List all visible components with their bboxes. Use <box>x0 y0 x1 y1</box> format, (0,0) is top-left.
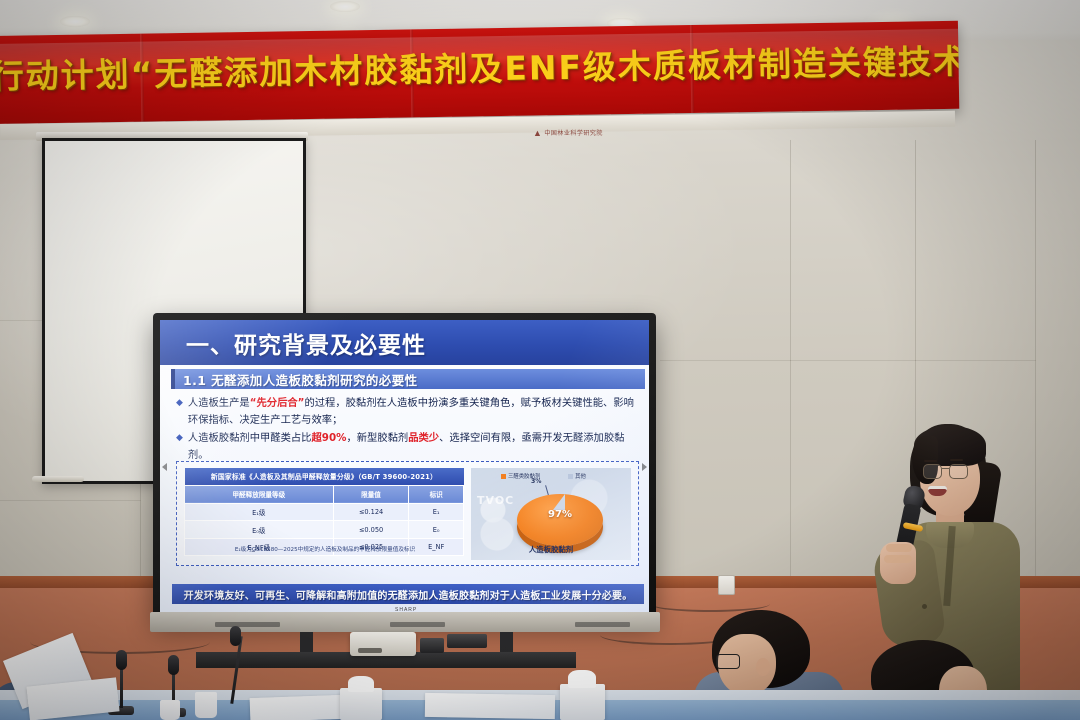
audience-ear <box>756 658 770 676</box>
chart-photo-watermark: TVOC <box>477 494 514 507</box>
downlight-icon <box>60 16 90 27</box>
slide-title: 一、研究背景及必要性 <box>160 320 649 365</box>
media-box <box>420 638 444 653</box>
slide-data-panel: 新国家标准《人造板及其制品甲醛释放量分级》（GB/T 39600-2021） 甲… <box>176 461 639 566</box>
bullet-item: ◆ 人造板胶黏剂中甲醛类占比超90%，新型胶黏剂品类少、选择空间有限，亟需开发无… <box>176 430 638 463</box>
presenter-eyebrow <box>924 460 937 462</box>
presenter-eyebrow <box>950 459 963 461</box>
display-speaker-grille <box>575 622 630 627</box>
meeting-room-photo: 行动计划“无醛添加木材胶黏剂及ENF级木质板材制造关键技术研究与示范”项目启动会… <box>0 0 1080 720</box>
downlight-icon <box>330 1 360 12</box>
display-speaker-grille <box>215 622 280 627</box>
media-box <box>447 634 487 648</box>
legend-entry: 其他 <box>568 474 586 480</box>
bullet-item: ◆ 人造板生产是“先分后合”的过程，胶黏剂在人造板中扮演多重关键角色，赋予板材关… <box>176 395 638 428</box>
paper-document <box>425 693 555 719</box>
cell-mark: E₀ <box>409 521 464 538</box>
legend-swatch-icon <box>568 474 573 479</box>
chart-title: 人造板胶黏剂 <box>471 544 631 555</box>
presenter-glasses-lens <box>923 464 942 479</box>
cell-mark: E₁ <box>409 503 464 520</box>
pie-slice-label-main: 97% <box>517 509 603 520</box>
event-banner: 行动计划“无醛添加木材胶黏剂及ENF级木质板材制造关键技术研究与示范”项目启动会 <box>0 21 959 124</box>
presentation-slide: 一、研究背景及必要性 1.1 无醛添加人造板胶黏剂研究的必要性 ◆ 人造板生产是… <box>160 320 649 614</box>
audience-glasses <box>716 654 740 669</box>
slide-bullets: ◆ 人造板生产是“先分后合”的过程，胶黏剂在人造板中扮演多重关键角色，赋予板材关… <box>176 395 638 466</box>
table-caption: 新国家标准《人造板及其制品甲醛释放量分级》（GB/T 39600-2021） <box>185 468 464 485</box>
table-footnote: E₁级为GB18580—2025中规定的人造板及制品的甲醛释放限量值及标识 <box>186 545 464 553</box>
interactive-display[interactable]: 一、研究背景及必要性 1.1 无醛添加人造板胶黏剂研究的必要性 ◆ 人造板生产是… <box>153 313 656 621</box>
diamond-bullet-icon: ◆ <box>176 395 183 428</box>
projection-screen-bar[interactable] <box>32 476 84 482</box>
presenter-coat-button <box>922 604 927 609</box>
formaldehyde-grade-table: 新国家标准《人造板及其制品甲醛释放量分级》（GB/T 39600-2021） 甲… <box>184 468 464 556</box>
desk-microphone-capsule <box>116 650 127 670</box>
tissue-box <box>560 684 605 720</box>
slide-section-heading: 1.1 无醛添加人造板胶黏剂研究的必要性 <box>171 369 645 389</box>
bullet-text: 人造板生产是“先分后合”的过程，胶黏剂在人造板中扮演多重关键角色，赋予板材关键性… <box>188 395 638 428</box>
column-header: 标识 <box>409 485 464 503</box>
presenter-glasses-lens <box>949 464 968 479</box>
table-row: E₀级 ≤0.050 E₀ <box>185 521 464 538</box>
tissue-sheet <box>348 676 374 692</box>
tissue-box <box>340 688 382 720</box>
diamond-bullet-icon: ◆ <box>176 430 183 463</box>
wall-socket[interactable] <box>718 575 735 595</box>
paper-cup <box>160 700 180 720</box>
projector <box>350 632 416 656</box>
legend-swatch-icon <box>501 474 506 479</box>
tissue-sheet <box>568 670 596 688</box>
table-row: E₁级 ≤0.124 E₁ <box>185 503 464 520</box>
desk-microphone-capsule <box>168 655 179 675</box>
cell-limit: ≤0.124 <box>333 503 409 520</box>
column-header: 限量值 <box>333 485 409 503</box>
institution-logo-text: 中国林业科学研究院 <box>544 131 603 137</box>
presenter-finger <box>886 544 912 552</box>
column-header: 甲醛释放限量等级 <box>185 485 334 503</box>
slide-next-arrow-icon[interactable] <box>642 463 647 471</box>
presenter-finger <box>884 555 912 563</box>
cell-limit: ≤0.050 <box>333 521 409 538</box>
projector-lens-icon <box>358 648 382 653</box>
slide-conclusion-banner: 开发环境友好、可再生、可降解和高附加值的无醛添加人造板胶黏剂对于人造板工业发展十… <box>172 584 644 604</box>
paper-cup <box>195 692 217 718</box>
adhesive-share-pie-chart: TVOC 三醛类胶黏剂 其他 3% 97% 人造板胶黏剂 <box>471 468 631 560</box>
cell-grade: E₁级 <box>185 503 334 520</box>
desk-microphone-stem <box>120 668 123 708</box>
institution-logo: ▲中国林业科学研究院 <box>533 128 603 138</box>
table-caption-row: 新国家标准《人造板及其制品甲醛释放量分级》（GB/T 39600-2021） <box>185 468 464 485</box>
pie-slice-label-small: 3% <box>531 478 542 485</box>
bullet-text: 人造板胶黏剂中甲醛类占比超90%，新型胶黏剂品类少、选择空间有限，亟需开发无醛添… <box>188 430 638 463</box>
presenter-glasses-bridge <box>942 468 949 469</box>
logo-mark-icon: ▲ <box>533 128 542 138</box>
desk-microphone-capsule <box>230 626 241 646</box>
cell-grade: E₀级 <box>185 521 334 538</box>
chart-legend: 三醛类胶黏剂 其他 <box>501 472 586 480</box>
display-control-panel <box>390 622 445 627</box>
slide-prev-arrow-icon[interactable] <box>162 463 167 471</box>
table-header-row: 甲醛释放限量等级 限量值 标识 <box>185 485 464 503</box>
